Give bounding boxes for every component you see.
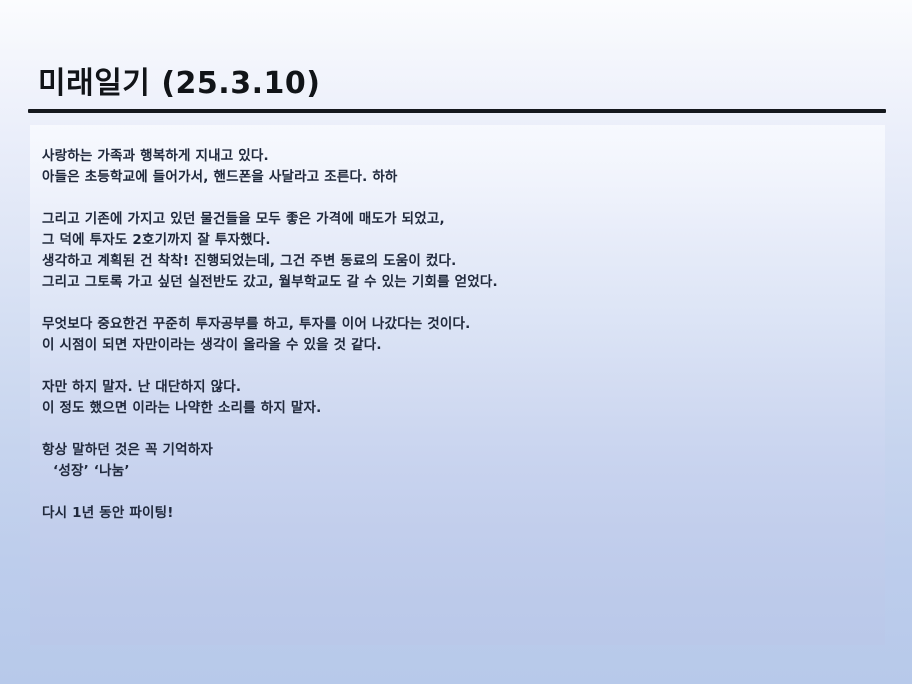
diary-line: 이 정도 했으면 이라는 나약한 소리를 하지 말자. — [42, 398, 875, 419]
diary-line: 생각하고 계획된 건 착착! 진행되었는데, 그건 주변 동료의 도움이 컸다. — [42, 251, 875, 272]
diary-line: 이 시점이 되면 자만이라는 생각이 올라올 수 있을 것 같다. — [42, 335, 875, 356]
diary-line: 다시 1년 동안 파이팅! — [42, 503, 875, 524]
diary-blank-line — [42, 419, 875, 440]
page-title: 미래일기 (25.3.10) — [38, 64, 320, 104]
diary-line: 그리고 기존에 가지고 있던 물건들을 모두 좋은 가격에 매도가 되었고, — [42, 209, 875, 230]
diary-blank-line — [42, 188, 875, 209]
diary-blank-line — [42, 293, 875, 314]
diary-line: ‘성장’ ‘나눔’ — [42, 461, 875, 482]
diary-line: 무엇보다 중요한건 꾸준히 투자공부를 하고, 투자를 이어 나갔다는 것이다. — [42, 314, 875, 335]
diary-line: 사랑하는 가족과 행복하게 지내고 있다. — [42, 146, 875, 167]
diary-line: 자만 하지 말자. 난 대단하지 않다. — [42, 377, 875, 398]
diary-blank-line — [42, 356, 875, 377]
diary-line: 그리고 그토록 가고 싶던 실전반도 갔고, 월부학교도 갈 수 있는 기회를 … — [42, 272, 875, 293]
diary-line: 아들은 초등학교에 들어가서, 핸드폰을 사달라고 조른다. 하하 — [42, 167, 875, 188]
title-block: 미래일기 (25.3.10) — [0, 64, 912, 114]
diary-blank-line — [42, 482, 875, 503]
title-underline-rule — [28, 109, 886, 113]
slide-canvas: 미래일기 (25.3.10) 사랑하는 가족과 행복하게 지내고 있다.아들은 … — [0, 0, 912, 684]
diary-line: 그 덕에 투자도 2호기까지 잘 투자했다. — [42, 230, 875, 251]
content-panel: 사랑하는 가족과 행복하게 지내고 있다.아들은 초등학교에 들어가서, 핸드폰… — [30, 125, 885, 645]
diary-text-body: 사랑하는 가족과 행복하게 지내고 있다.아들은 초등학교에 들어가서, 핸드폰… — [42, 146, 875, 524]
diary-line: 항상 말하던 것은 꼭 기억하자 — [42, 440, 875, 461]
